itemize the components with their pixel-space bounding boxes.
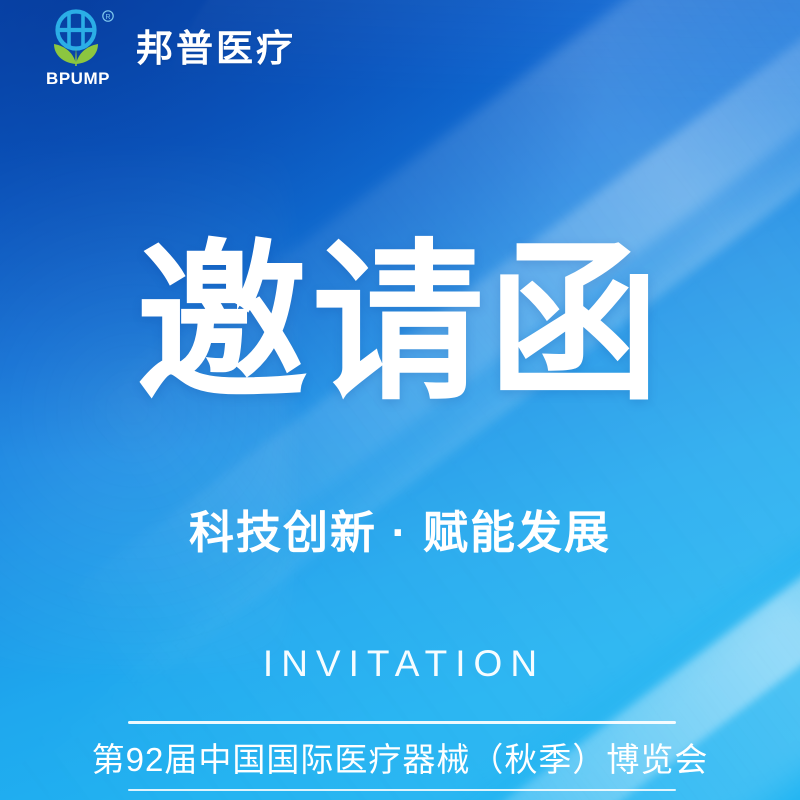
poster-subtitle: 科技创新 · 赋能发展 [0, 506, 800, 560]
event-name: 第92届中国国际医疗器械（秋季）博览会 [0, 736, 800, 784]
poster-content: 邀请函 科技创新 · 赋能发展 INVITATION 第92届中国国际医疗器械（… [0, 0, 800, 800]
divider-top [128, 721, 676, 724]
logo-wordmark-text: BPUMP [46, 69, 110, 88]
brand-header: R BPUMP 邦普医疗 [44, 8, 296, 88]
bpump-globe-leaf-logo-icon: R BPUMP [44, 8, 120, 88]
brand-name: 邦普医疗 [136, 30, 296, 67]
divider-bottom [128, 789, 676, 791]
invitation-english-label: INVITATION [0, 645, 800, 682]
svg-text:R: R [105, 14, 110, 21]
page-title: 邀请函 [0, 238, 800, 410]
invitation-poster: R BPUMP 邦普医疗 邀请函 科技创新 · 赋能发展 INVITATION … [0, 0, 800, 800]
